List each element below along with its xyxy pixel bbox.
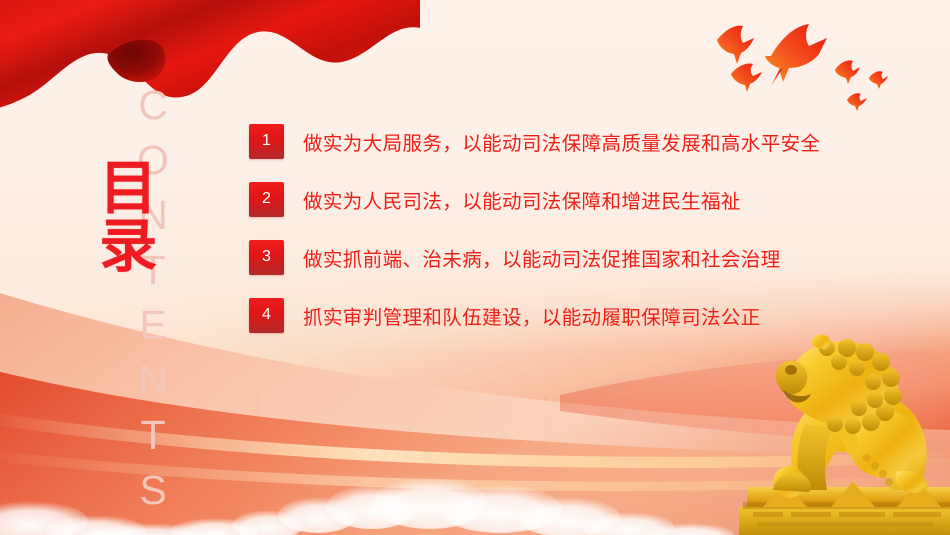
red-waving-flag bbox=[0, 0, 420, 122]
page-title: 目录 bbox=[94, 157, 150, 273]
item-number-badge: 3 bbox=[249, 240, 284, 275]
list-item-label: 做实抓前端、治未病，以能动司法促推国家和社会治理 bbox=[303, 243, 781, 272]
contents-english-label: CONTENTS bbox=[132, 82, 173, 522]
slide-canvas: CONTENTS 目录 1 做实为大局服务，以能动司法保障高质量发展和高水平安全… bbox=[0, 0, 950, 535]
flying-doves bbox=[709, 16, 934, 111]
contents-list: 1 做实为大局服务，以能动司法保障高质量发展和高水平安全 2 做实为人民司法，以… bbox=[249, 112, 909, 344]
item-number-badge: 1 bbox=[249, 124, 284, 159]
list-item[interactable]: 2 做实为人民司法，以能动司法保障和增进民生福祉 bbox=[249, 170, 909, 228]
list-item[interactable]: 3 做实抓前端、治未病，以能动司法促推国家和社会治理 bbox=[249, 228, 909, 286]
lion-head bbox=[776, 334, 902, 434]
list-item-label: 做实为大局服务，以能动司法保障高质量发展和高水平安全 bbox=[303, 127, 820, 156]
list-item[interactable]: 4 抓实审判管理和队伍建设，以能动履职保障司法公正 bbox=[249, 286, 909, 344]
item-number-badge: 2 bbox=[249, 182, 284, 217]
list-item-label: 做实为人民司法，以能动司法保障和增进民生福祉 bbox=[303, 185, 741, 214]
item-number-badge: 4 bbox=[249, 298, 284, 333]
list-item[interactable]: 1 做实为大局服务，以能动司法保障高质量发展和高水平安全 bbox=[249, 112, 909, 170]
golden-guardian-lion-statue bbox=[739, 332, 950, 535]
contents-title-block: CONTENTS 目录 bbox=[88, 82, 198, 382]
list-item-label: 抓实审判管理和队伍建设，以能动履职保障司法公正 bbox=[303, 301, 761, 330]
